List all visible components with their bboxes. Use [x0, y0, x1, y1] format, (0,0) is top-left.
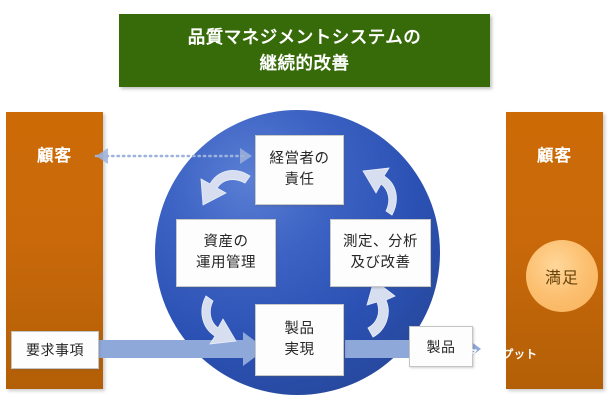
process-box-management-responsibility: 経営者の 責任 — [255, 135, 344, 205]
title-banner: 品質マネジメントシステムの 継続的改善 — [119, 14, 490, 87]
process-box-line-1: 測定、分析 — [343, 232, 418, 253]
process-box-line-1: 製品 — [285, 319, 315, 340]
process-box-line-2: 及び改善 — [351, 253, 411, 274]
process-box-line-2: 運用管理 — [196, 253, 256, 274]
satisfaction-label: 満足 — [545, 264, 579, 288]
product-box: 製品 — [409, 326, 473, 367]
process-box-product-realization: 製品 実現 — [255, 304, 344, 376]
process-box-line-2: 責任 — [285, 170, 315, 191]
product-label: 製品 — [427, 337, 456, 357]
process-box-line-1: 経営者の — [270, 149, 330, 170]
requirements-box: 要求事項 — [11, 331, 99, 369]
satisfaction-circle: 満足 — [526, 240, 598, 312]
process-box-line-2: 実現 — [285, 340, 315, 361]
diagram-canvas: 品質マネジメントシステムの 継続的改善 顧客 顧客 満足 — [0, 0, 609, 418]
process-box-line-1: 資産の — [204, 232, 249, 253]
customer-label-right: 顧客 — [506, 142, 603, 166]
title-line-2: 継続的改善 — [260, 51, 350, 76]
output-label: アウトプット — [466, 346, 537, 362]
title-line-1: 品質マネジメントシステムの — [188, 25, 421, 50]
requirements-label: 要求事項 — [26, 340, 84, 360]
process-box-measurement-analysis: 測定、分析 及び改善 — [330, 219, 431, 287]
process-box-resource-management: 資産の 運用管理 — [176, 219, 276, 287]
customer-label-left: 顧客 — [6, 142, 103, 166]
